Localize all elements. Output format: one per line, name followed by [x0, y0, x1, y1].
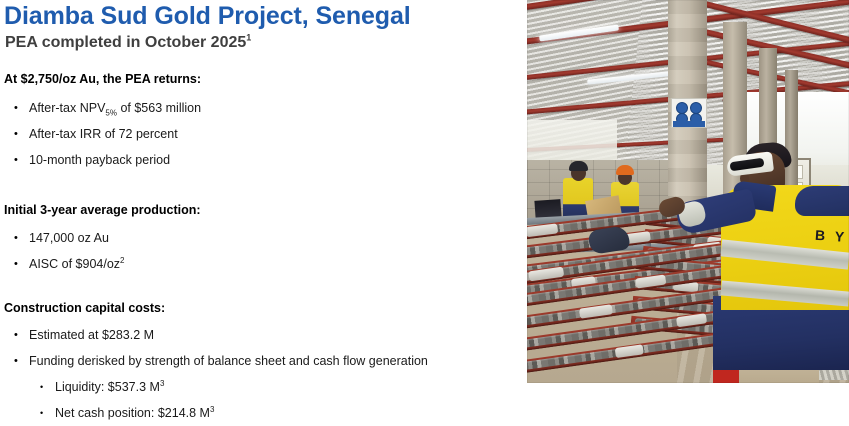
bullet-text: After-tax IRR of 72 percent — [29, 127, 178, 141]
list-item: After-tax NPV5% of $563 million — [0, 95, 520, 121]
section-production: Initial 3-year average production: 147,0… — [0, 203, 520, 277]
section-capital-bullet-list: Estimated at $283.2 M Funding derisked b… — [0, 322, 520, 426]
bullet-footnote-marker: 3 — [210, 405, 214, 414]
list-item: Estimated at $283.2 M — [0, 322, 520, 348]
hard-hat — [569, 161, 588, 171]
ppe-sign-caption-bar — [673, 121, 705, 127]
list-item: 10-month payback period — [0, 147, 520, 173]
list-item: Funding derisked by strength of balance … — [0, 348, 520, 374]
bullet-text: Estimated at $283.2 M — [29, 328, 154, 342]
core-piece — [527, 223, 558, 237]
list-item: After-tax IRR of 72 percent — [0, 121, 520, 147]
bullet-text: Funding derisked by strength of balance … — [29, 354, 428, 368]
core-piece — [676, 313, 707, 327]
page-title: Diamba Sud Gold Project, Senegal — [4, 2, 411, 31]
page-subtitle-text: PEA completed in October 2025 — [5, 34, 246, 51]
section-returns: At $2,750/oz Au, the PEA returns: After-… — [0, 72, 520, 173]
bullet-subscript: 5% — [105, 109, 117, 118]
section-capital: Construction capital costs: Estimated at… — [0, 301, 520, 426]
core-shed-photo: B Y — [527, 0, 849, 383]
list-item: 147,000 oz Au — [0, 225, 520, 251]
list-item: AISC of $904/oz2 — [0, 251, 520, 277]
bullet-footnote-marker: 2 — [120, 256, 124, 265]
bullet-text: AISC of $904/oz — [29, 257, 120, 271]
slide-text-column: Diamba Sud Gold Project, Senegal PEA com… — [0, 0, 520, 419]
bullet-text: After-tax NPV — [29, 101, 105, 115]
section-capital-heading: Construction capital costs: — [4, 301, 520, 315]
list-item-sub: Net cash position: $214.8 M3 — [0, 400, 520, 426]
section-returns-bullet-list: After-tax NPV5% of $563 million After-ta… — [0, 95, 520, 173]
section-production-heading: Initial 3-year average production: — [4, 203, 520, 217]
bullet-text-cont: of $563 million — [117, 101, 201, 115]
section-production-bullet-list: 147,000 oz Au AISC of $904/oz2 — [0, 225, 520, 277]
core-piece — [579, 304, 613, 318]
section-returns-heading: At $2,750/oz Au, the PEA returns: — [4, 72, 520, 86]
core-piece — [528, 267, 564, 282]
bullet-footnote-marker: 3 — [160, 379, 164, 388]
bullet-text: 147,000 oz Au — [29, 231, 109, 245]
list-item-sub: Liquidity: $537.3 M3 — [0, 374, 520, 400]
jacket-shoulder-navy — [795, 186, 849, 216]
bullet-text: Liquidity: $537.3 M — [55, 380, 160, 394]
page-subtitle: PEA completed in October 20251 — [5, 34, 251, 52]
bullet-text: 10-month payback period — [29, 153, 170, 167]
ppe-safety-sign — [671, 98, 707, 128]
subtitle-footnote-marker: 1 — [246, 33, 251, 43]
core-piece — [615, 344, 644, 358]
core-piece — [635, 274, 666, 288]
jacket-back-lettering: B Y — [814, 227, 849, 247]
hard-hat — [616, 165, 634, 175]
bullet-text: Net cash position: $214.8 M — [55, 406, 210, 420]
